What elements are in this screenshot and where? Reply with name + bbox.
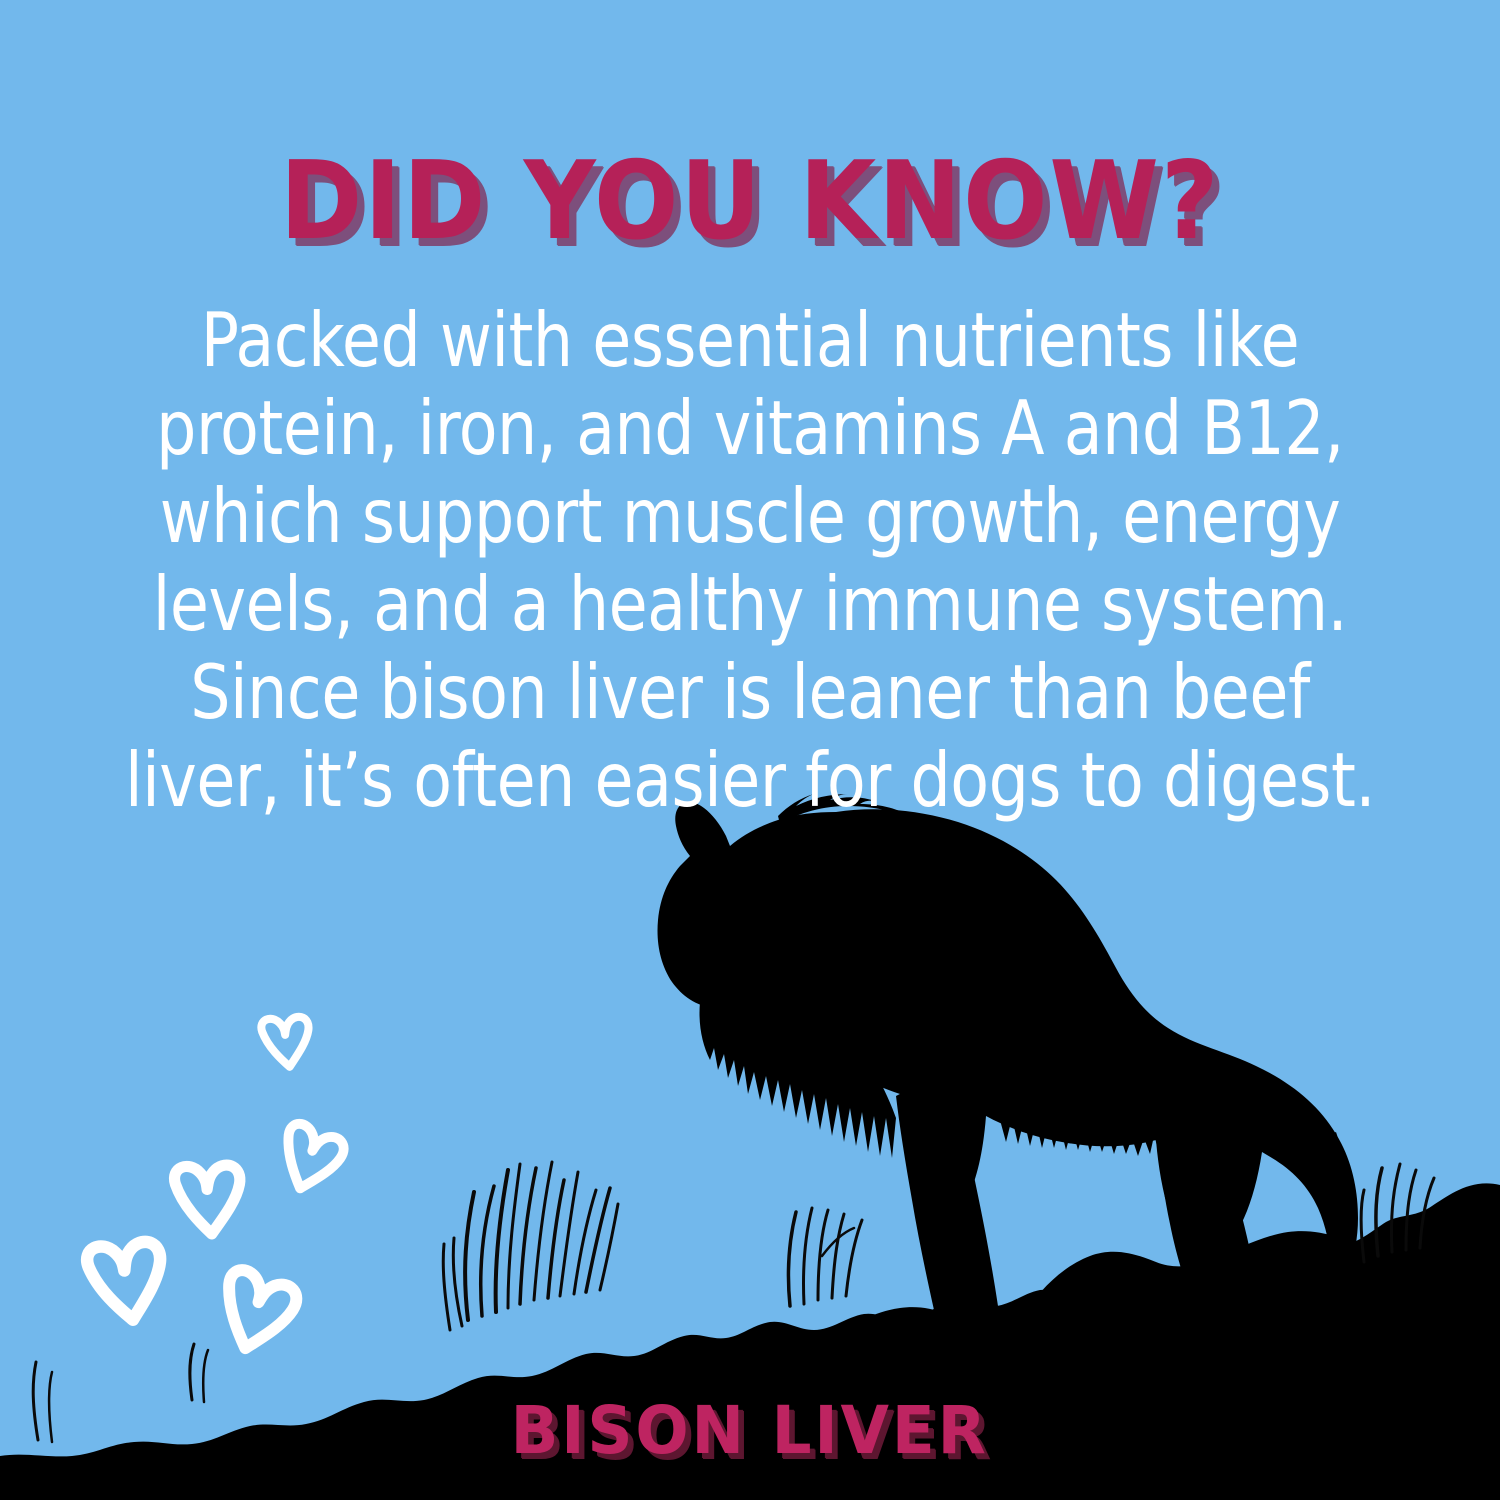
heart-icon-2 [262,1110,358,1206]
product-caption: BISON LIVER [511,1398,989,1464]
headline-container: DID YOU KNOW? [0,148,1500,256]
caption-container: BISON LIVER [0,1398,1500,1464]
heart-icon-4 [70,1224,181,1335]
body-copy-container: Packed with essential nutrients like pro… [70,296,1430,824]
heart-icon-1 [251,1006,321,1076]
heart-icon-5 [199,1254,313,1368]
heart-icon-3 [161,1151,256,1246]
body-copy-text: Packed with essential nutrients like pro… [111,296,1389,824]
poster-canvas: DID YOU KNOW? Packed with essential nutr… [0,0,1500,1500]
page-title: DID YOU KNOW? [280,148,1220,256]
